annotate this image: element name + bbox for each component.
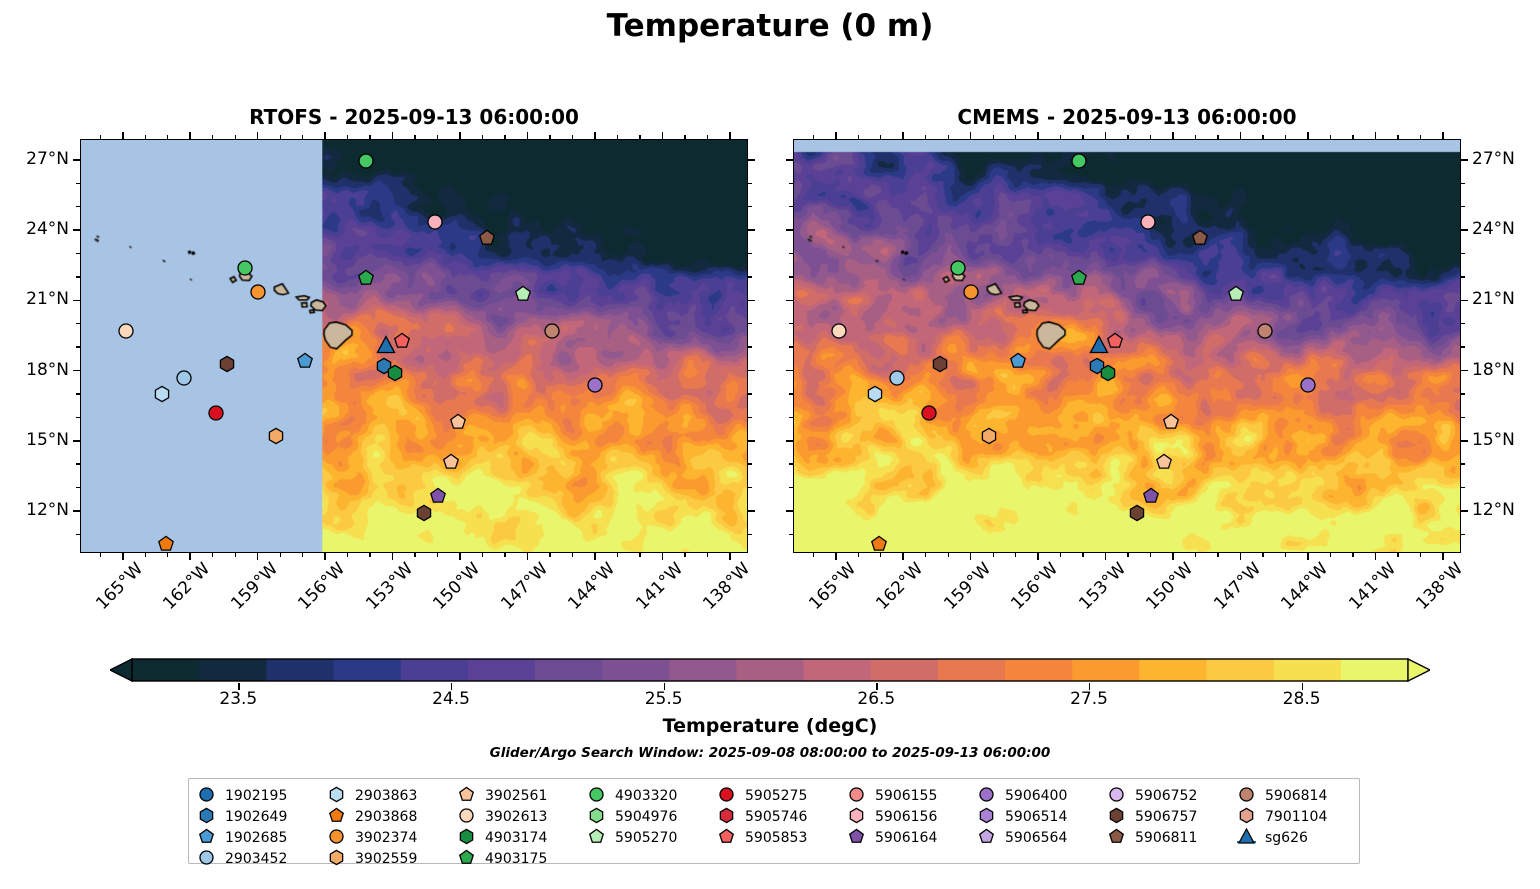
xtick-minor-top-left--163 xyxy=(167,135,168,139)
float-marker-5905853[interactable] xyxy=(392,331,412,355)
ytick-minor-right-25 xyxy=(789,206,793,207)
legend-item-7901104[interactable]: 7901104 xyxy=(1237,806,1367,827)
map-field-cmems xyxy=(794,140,1460,552)
float-marker-5906156[interactable] xyxy=(1138,212,1158,236)
ytick-minor-left-19 xyxy=(76,346,80,347)
float-marker-5905270[interactable] xyxy=(1226,284,1246,308)
ytick-minor-left-14 xyxy=(76,463,80,464)
xtick-minor-top-right--142 xyxy=(1352,135,1353,139)
legend-label-5906155: 5906155 xyxy=(875,788,937,804)
ytick-minor-right-26 xyxy=(789,183,793,184)
ytick-minor-left-11 xyxy=(76,534,80,535)
float-marker-3902561[interactable] xyxy=(1161,412,1181,436)
xtick-major-left-1 xyxy=(189,553,191,560)
legend-label-5905853: 5905853 xyxy=(745,830,807,846)
xlabel-left-4: 153°W xyxy=(362,563,413,614)
xlabel-right-9: 138°W xyxy=(1412,563,1463,614)
ylabel-right-2: 21°N xyxy=(1472,289,1540,309)
xtick-major-top-left-6 xyxy=(527,132,529,139)
ytick-major-right-left-3 xyxy=(748,370,755,372)
float-marker-5906757b[interactable] xyxy=(1127,503,1147,527)
search-window-note: Glider/Argo Search Window: 2025-09-08 08… xyxy=(0,745,1540,761)
ytick-major-left-0 xyxy=(73,159,80,161)
xtick-minor-top-right--143 xyxy=(1330,135,1331,139)
legend-label-5906156: 5906156 xyxy=(875,809,937,825)
xlabel-right-8: 141°W xyxy=(1345,563,1396,614)
legend-label-sg626: sg626 xyxy=(1265,830,1308,846)
float-marker-3902559[interactable] xyxy=(979,426,999,450)
map-panel-rtofs[interactable] xyxy=(80,139,748,553)
legend-item-2903868[interactable]: 2903868 xyxy=(327,806,457,827)
float-marker-2903452[interactable] xyxy=(887,368,907,392)
xtick-minor-top-left--140 xyxy=(684,135,685,139)
legend-item-5906564[interactable]: 5906564 xyxy=(977,827,1107,848)
legend-item-5905853[interactable]: 5905853 xyxy=(717,827,847,848)
ytick-major-right-right-5 xyxy=(1461,510,1468,512)
legend-item-5906164[interactable]: 5906164 xyxy=(847,827,977,848)
xtick-minor-left--149 xyxy=(482,553,483,557)
xtick-minor-right--155 xyxy=(1060,553,1061,557)
xtick-minor-top-left--155 xyxy=(347,135,348,139)
legend-item-5906400[interactable]: 5906400 xyxy=(977,785,1107,806)
legend-marker-hexagon-icon xyxy=(197,806,221,827)
map-panel-cmems[interactable] xyxy=(793,139,1461,553)
float-marker-2903452[interactable] xyxy=(174,368,194,392)
ytick-minor-right-right-20 xyxy=(1461,323,1465,324)
xtick-major-top-right-2 xyxy=(970,132,972,139)
xtick-major-right-4 xyxy=(1105,553,1107,560)
legend-column-3: 490332059049765905270 xyxy=(587,785,717,869)
legend-column-1: 2903863290386839023743902559 xyxy=(327,785,457,869)
ytick-minor-right-left-26 xyxy=(748,183,752,184)
float-marker-5906757[interactable] xyxy=(930,354,950,378)
float-marker-4903320b[interactable] xyxy=(356,151,376,175)
xtick-minor-top-left--158 xyxy=(280,135,281,139)
ytick-minor-right-left-25 xyxy=(748,206,752,207)
legend-label-3902559: 3902559 xyxy=(355,851,417,867)
float-marker-1902685[interactable] xyxy=(295,351,315,375)
xtick-minor-left--148 xyxy=(504,553,505,557)
xtick-major-top-left-3 xyxy=(324,132,326,139)
legend-label-5906757: 5906757 xyxy=(1135,809,1197,825)
ytick-major-right-5 xyxy=(786,510,793,512)
xtick-minor-top-right--157 xyxy=(1015,135,1016,139)
colorbar-gradient xyxy=(110,657,1430,683)
xlabel-left-1: 162°W xyxy=(159,563,210,614)
xtick-minor-left--143 xyxy=(617,553,618,557)
legend-marker-pentagon-icon xyxy=(457,785,481,806)
legend-label-5906814: 5906814 xyxy=(1265,788,1327,804)
legend-item-1902649[interactable]: 1902649 xyxy=(197,806,327,827)
legend-label-3902561: 3902561 xyxy=(485,788,547,804)
legend-marker-pentagon-icon xyxy=(717,827,741,848)
legend-marker-hexagon-icon xyxy=(977,806,1001,827)
ylabel-right-5: 12°N xyxy=(1472,500,1540,520)
float-marker-5906156[interactable] xyxy=(425,212,445,236)
xtick-minor-top-left--157 xyxy=(302,135,303,139)
legend-column-2: 3902561390261349031744903175 xyxy=(457,785,587,869)
xlabel-left-8: 141°W xyxy=(632,563,683,614)
legend-item-3902613[interactable]: 3902613 xyxy=(457,806,587,827)
float-marker-3902374[interactable] xyxy=(961,282,981,306)
panel-title-rtofs: RTOFS - 2025-09-13 06:00:00 xyxy=(80,105,748,129)
xtick-minor-top-right--166 xyxy=(813,135,814,139)
legend-item-5906811[interactable]: 5906811 xyxy=(1107,827,1237,848)
xtick-minor-right--149 xyxy=(1195,553,1196,557)
xtick-minor-top-right--146 xyxy=(1262,135,1263,139)
legend-marker-circle-icon xyxy=(327,827,351,848)
marker-legend[interactable]: 1902195190264919026852903452290386329038… xyxy=(188,778,1360,864)
float-marker-5905275[interactable] xyxy=(919,403,939,427)
legend-column-6: 590640059065145906564 xyxy=(977,785,1107,869)
legend-marker-circle-icon xyxy=(977,785,1001,806)
ytick-minor-right-left-14 xyxy=(748,463,752,464)
legend-marker-circle-icon xyxy=(1107,785,1131,806)
legend-marker-pentagon-icon xyxy=(1107,827,1131,848)
float-marker-5905853[interactable] xyxy=(1105,331,1125,355)
float-marker-4903174[interactable] xyxy=(385,363,405,387)
xtick-major-top-right-4 xyxy=(1105,132,1107,139)
legend-marker-hexagon-icon xyxy=(1107,806,1131,827)
xtick-minor-top-right--164 xyxy=(858,135,859,139)
colorbar-ticklabel-3: 26.5 xyxy=(836,689,916,709)
xlabel-left-7: 144°W xyxy=(564,563,615,614)
ytick-minor-right-left-19 xyxy=(748,346,752,347)
ytick-minor-left-17 xyxy=(76,393,80,394)
xtick-minor-right--164 xyxy=(858,553,859,557)
float-marker-3902559[interactable] xyxy=(266,426,286,450)
xtick-minor-top-right--158 xyxy=(993,135,994,139)
legend-item-4903320[interactable]: 4903320 xyxy=(587,785,717,806)
xtick-minor-left--139 xyxy=(707,553,708,557)
float-marker-4903320b[interactable] xyxy=(1069,151,1089,175)
xtick-minor-right--146 xyxy=(1262,553,1263,557)
float-marker-1902685[interactable] xyxy=(1008,351,1028,375)
xtick-minor-top-left--139 xyxy=(707,135,708,139)
ytick-major-left-1 xyxy=(73,229,80,231)
float-marker-5906814[interactable] xyxy=(1255,321,1275,345)
float-marker-2903868[interactable] xyxy=(156,534,176,553)
ylabel-left-4: 15°N xyxy=(0,430,69,450)
legend-marker-hexagon-icon xyxy=(847,806,871,827)
xlabel-right-2: 159°W xyxy=(940,563,991,614)
ytick-major-right-left-4 xyxy=(748,440,755,442)
xtick-minor-top-right--149 xyxy=(1195,135,1196,139)
xtick-major-top-right-1 xyxy=(902,132,904,139)
legend-item-2903863[interactable]: 2903863 xyxy=(327,785,457,806)
xtick-major-right-5 xyxy=(1172,553,1174,560)
xtick-major-top-left-5 xyxy=(459,132,461,139)
legend-grid: 1902195190264919026852903452290386329038… xyxy=(197,785,1367,869)
legend-item-1902685[interactable]: 1902685 xyxy=(197,827,327,848)
xlabel-right-6: 147°W xyxy=(1210,563,1261,614)
xtick-minor-top-left--154 xyxy=(369,135,370,139)
xtick-minor-right--160 xyxy=(948,553,949,557)
float-marker-4903175[interactable] xyxy=(1069,268,1089,292)
legend-label-2903868: 2903868 xyxy=(355,809,417,825)
legend-marker-pentagon-icon xyxy=(327,806,351,827)
ytick-major-right-4 xyxy=(786,440,793,442)
float-marker-5906814[interactable] xyxy=(542,321,562,345)
xtick-major-left-3 xyxy=(324,553,326,560)
xtick-minor-top-right--140 xyxy=(1397,135,1398,139)
xtick-minor-left--161 xyxy=(212,553,213,557)
ytick-minor-right-left-23 xyxy=(748,253,752,254)
xtick-minor-left--142 xyxy=(639,553,640,557)
ytick-minor-right-right-11 xyxy=(1461,534,1465,535)
legend-label-2903863: 2903863 xyxy=(355,788,417,804)
legend-item-5904976[interactable]: 5904976 xyxy=(587,806,717,827)
legend-marker-circle-icon xyxy=(197,848,221,869)
xtick-minor-right--148 xyxy=(1217,553,1218,557)
legend-item-5906814[interactable]: 5906814 xyxy=(1237,785,1367,806)
legend-item-5905275[interactable]: 5905275 xyxy=(717,785,847,806)
panel-title-cmems: CMEMS - 2025-09-13 06:00:00 xyxy=(793,105,1461,129)
float-marker-4903175[interactable] xyxy=(356,268,376,292)
figure-title: Temperature (0 m) xyxy=(0,8,1540,44)
float-marker-3902613[interactable] xyxy=(116,321,136,345)
xtick-major-top-left-8 xyxy=(662,132,664,139)
legend-label-1902195: 1902195 xyxy=(225,788,287,804)
xtick-minor-left--157 xyxy=(302,553,303,557)
legend-label-3902374: 3902374 xyxy=(355,830,417,846)
legend-label-5906400: 5906400 xyxy=(1005,788,1067,804)
xtick-major-left-8 xyxy=(662,553,664,560)
xtick-minor-left--152 xyxy=(414,553,415,557)
xtick-major-right-0 xyxy=(835,553,837,560)
ytick-minor-right-16 xyxy=(789,417,793,418)
xtick-minor-right--145 xyxy=(1285,553,1286,557)
xtick-minor-left--164 xyxy=(145,553,146,557)
xtick-minor-right--154 xyxy=(1082,553,1083,557)
ytick-minor-left-23 xyxy=(76,253,80,254)
xtick-minor-top-right--163 xyxy=(880,135,881,139)
legend-item-5905270[interactable]: 5905270 xyxy=(587,827,717,848)
ytick-minor-right-23 xyxy=(789,253,793,254)
ytick-minor-right-right-23 xyxy=(1461,253,1465,254)
float-marker-4903320[interactable] xyxy=(235,258,255,282)
float-marker-5905270[interactable] xyxy=(513,284,533,308)
legend-item-3902559[interactable]: 3902559 xyxy=(327,848,457,869)
ylabel-left-2: 21°N xyxy=(0,289,69,309)
legend-label-7901104: 7901104 xyxy=(1265,809,1327,825)
xtick-minor-right--143 xyxy=(1330,553,1331,557)
xtick-minor-top-left--152 xyxy=(414,135,415,139)
xtick-minor-top-left--143 xyxy=(617,135,618,139)
ytick-minor-right-right-25 xyxy=(1461,206,1465,207)
legend-label-5904976: 5904976 xyxy=(615,809,677,825)
xtick-major-top-left-2 xyxy=(257,132,259,139)
xtick-minor-top-left--146 xyxy=(549,135,550,139)
legend-marker-pentagon-icon xyxy=(847,827,871,848)
xtick-minor-left--160 xyxy=(235,553,236,557)
xtick-major-top-right-6 xyxy=(1240,132,1242,139)
legend-item-4903175[interactable]: 4903175 xyxy=(457,848,587,869)
xtick-minor-left--166 xyxy=(100,553,101,557)
ytick-minor-right-11 xyxy=(789,534,793,535)
legend-item-3902561[interactable]: 3902561 xyxy=(457,785,587,806)
xtick-major-left-9 xyxy=(729,553,731,560)
xtick-minor-right--166 xyxy=(813,553,814,557)
xtick-minor-left--158 xyxy=(280,553,281,557)
xtick-minor-top-right--145 xyxy=(1285,135,1286,139)
xtick-minor-top-left--142 xyxy=(639,135,640,139)
ylabel-right-4: 15°N xyxy=(1472,430,1540,450)
xlabel-left-0: 165°W xyxy=(92,563,143,614)
ytick-major-right-2 xyxy=(786,300,793,302)
legend-label-4903320: 4903320 xyxy=(615,788,677,804)
colorbar xyxy=(110,657,1430,683)
xtick-major-top-left-1 xyxy=(189,132,191,139)
xlabel-left-9: 138°W xyxy=(699,563,750,614)
xlabel-left-2: 159°W xyxy=(227,563,278,614)
legend-column-7: 590675259067575906811 xyxy=(1107,785,1237,869)
float-marker-5906757b[interactable] xyxy=(414,503,434,527)
legend-label-5906811: 5906811 xyxy=(1135,830,1197,846)
legend-marker-pentagon-icon xyxy=(587,827,611,848)
float-marker-2903863[interactable] xyxy=(865,384,885,408)
float-marker-5906757[interactable] xyxy=(217,354,237,378)
ytick-minor-left-13 xyxy=(76,487,80,488)
ytick-major-right-3 xyxy=(786,370,793,372)
xtick-minor-top-left--160 xyxy=(235,135,236,139)
xtick-major-right-9 xyxy=(1442,553,1444,560)
xtick-major-left-6 xyxy=(527,553,529,560)
xtick-minor-left--145 xyxy=(572,553,573,557)
float-marker-5906400[interactable] xyxy=(1298,375,1318,399)
ytick-major-right-right-3 xyxy=(1461,370,1468,372)
ylabel-left-1: 24°N xyxy=(0,219,69,239)
legend-column-8: 59068147901104sg626 xyxy=(1237,785,1367,869)
ytick-major-left-3 xyxy=(73,370,80,372)
float-marker-3902561b[interactable] xyxy=(1154,452,1174,476)
ytick-major-right-left-5 xyxy=(748,510,755,512)
ytick-major-right-left-2 xyxy=(748,300,755,302)
ytick-major-right-left-1 xyxy=(748,229,755,231)
xtick-minor-left--154 xyxy=(369,553,370,557)
float-marker-3902613[interactable] xyxy=(829,321,849,345)
xtick-major-right-8 xyxy=(1375,553,1377,560)
ytick-minor-right-17 xyxy=(789,393,793,394)
float-marker-3902374[interactable] xyxy=(248,282,268,306)
ytick-minor-right-right-22 xyxy=(1461,276,1465,277)
legend-label-3902613: 3902613 xyxy=(485,809,547,825)
xtick-minor-top-right--161 xyxy=(925,135,926,139)
xtick-minor-top-right--155 xyxy=(1060,135,1061,139)
xtick-minor-top-left--164 xyxy=(145,135,146,139)
ytick-minor-left-20 xyxy=(76,323,80,324)
legend-label-5906564: 5906564 xyxy=(1005,830,1067,846)
legend-marker-hexagon-icon xyxy=(717,806,741,827)
ytick-minor-right-right-16 xyxy=(1461,417,1465,418)
float-marker-3902561[interactable] xyxy=(448,412,468,436)
xtick-major-right-3 xyxy=(1037,553,1039,560)
xtick-major-right-7 xyxy=(1307,553,1309,560)
float-marker-5906811[interactable] xyxy=(1190,228,1210,252)
colorbar-ticklabel-1: 24.5 xyxy=(411,689,491,709)
ylabel-left-0: 27°N xyxy=(0,149,69,169)
xtick-minor-top-left--149 xyxy=(482,135,483,139)
legend-label-5905270: 5905270 xyxy=(615,830,677,846)
legend-marker-circle-icon xyxy=(457,806,481,827)
xtick-minor-left--163 xyxy=(167,553,168,557)
ytick-minor-right-left-16 xyxy=(748,417,752,418)
legend-item-5906752[interactable]: 5906752 xyxy=(1107,785,1237,806)
float-marker-5906811[interactable] xyxy=(477,228,497,252)
legend-item-2903452[interactable]: 2903452 xyxy=(197,848,327,869)
float-marker-5905275[interactable] xyxy=(206,403,226,427)
legend-item-5905746[interactable]: 5905746 xyxy=(717,806,847,827)
map-field-rtofs xyxy=(81,140,747,552)
legend-label-1902649: 1902649 xyxy=(225,809,287,825)
legend-label-5906752: 5906752 xyxy=(1135,788,1197,804)
float-marker-2903868[interactable] xyxy=(869,534,889,553)
xtick-major-right-1 xyxy=(902,553,904,560)
xlabel-right-5: 150°W xyxy=(1142,563,1193,614)
colorbar-ticklabel-0: 23.5 xyxy=(198,689,278,709)
float-marker-3902561b[interactable] xyxy=(441,452,461,476)
xtick-minor-top-left--151 xyxy=(437,135,438,139)
legend-item-4903174[interactable]: 4903174 xyxy=(457,827,587,848)
float-marker-5906400[interactable] xyxy=(585,375,605,399)
xtick-major-top-right-3 xyxy=(1037,132,1039,139)
legend-label-5906514: 5906514 xyxy=(1005,809,1067,825)
legend-marker-hexagon-icon xyxy=(1237,806,1261,827)
xtick-minor-left--151 xyxy=(437,553,438,557)
colorbar-ticklabel-2: 25.5 xyxy=(624,689,704,709)
ylabel-right-3: 18°N xyxy=(1472,360,1540,380)
legend-marker-circle-icon xyxy=(587,785,611,806)
colorbar-ticklabel-5: 28.5 xyxy=(1262,689,1342,709)
xtick-major-top-left-7 xyxy=(594,132,596,139)
xtick-minor-top-right--148 xyxy=(1217,135,1218,139)
legend-item-1902195[interactable]: 1902195 xyxy=(197,785,327,806)
xtick-minor-top-right--154 xyxy=(1082,135,1083,139)
legend-marker-hexagon-icon xyxy=(457,827,481,848)
legend-item-5906155[interactable]: 5906155 xyxy=(847,785,977,806)
xtick-major-top-right-8 xyxy=(1375,132,1377,139)
ytick-minor-right-left-20 xyxy=(748,323,752,324)
xtick-minor-top-left--161 xyxy=(212,135,213,139)
xtick-minor-right--161 xyxy=(925,553,926,557)
float-marker-2903863[interactable] xyxy=(152,384,172,408)
legend-marker-pentagon-icon xyxy=(457,848,481,869)
xtick-major-top-right-9 xyxy=(1442,132,1444,139)
ytick-major-right-left-0 xyxy=(748,159,755,161)
colorbar-label: Temperature (degC) xyxy=(0,715,1540,737)
legend-item-3902374[interactable]: 3902374 xyxy=(327,827,457,848)
legend-item-5906514[interactable]: 5906514 xyxy=(977,806,1107,827)
xtick-major-right-6 xyxy=(1240,553,1242,560)
ytick-minor-right-right-17 xyxy=(1461,393,1465,394)
xtick-minor-top-left--166 xyxy=(100,135,101,139)
legend-item-5906156[interactable]: 5906156 xyxy=(847,806,977,827)
xtick-minor-right--139 xyxy=(1420,553,1421,557)
xlabel-right-1: 162°W xyxy=(872,563,923,614)
float-marker-4903174[interactable] xyxy=(1098,363,1118,387)
legend-marker-hexagon-icon xyxy=(327,785,351,806)
ytick-major-left-2 xyxy=(73,300,80,302)
legend-label-5905275: 5905275 xyxy=(745,788,807,804)
ytick-minor-left-25 xyxy=(76,206,80,207)
xtick-minor-right--142 xyxy=(1352,553,1353,557)
legend-item-5906757[interactable]: 5906757 xyxy=(1107,806,1237,827)
legend-item-sg626[interactable]: sg626 xyxy=(1237,827,1367,848)
ytick-minor-left-16 xyxy=(76,417,80,418)
xlabel-right-4: 153°W xyxy=(1075,563,1126,614)
float-marker-4903320[interactable] xyxy=(948,258,968,282)
legend-label-1902685: 1902685 xyxy=(225,830,287,846)
